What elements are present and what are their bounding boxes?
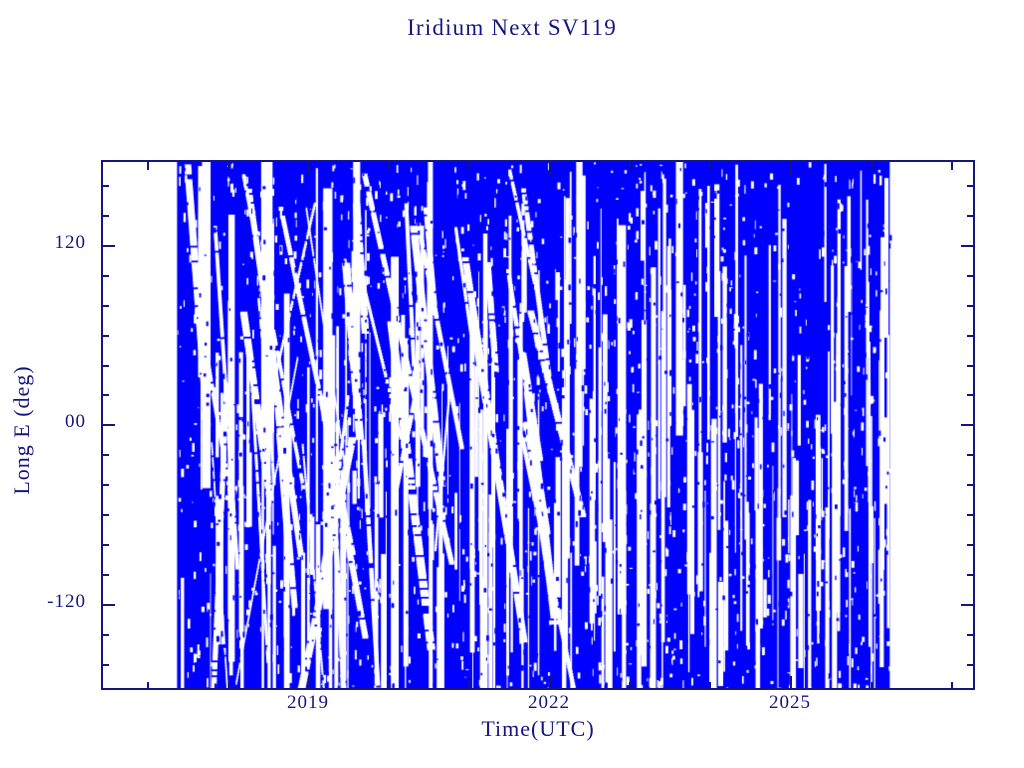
y-axis-minor-tick [101,544,109,546]
x-axis-minor-tick-top [388,162,390,170]
y-axis-minor-tick-right [967,484,975,486]
y-axis-minor-tick-right [967,514,975,516]
y-axis-major-tick [101,245,115,247]
y-axis-tick-label: 120 [0,232,86,254]
y-axis-minor-tick [101,275,109,277]
chart-figure: Iridium Next SV119 12000-120201920222025… [0,0,1024,768]
y-axis-minor-tick-right [967,394,975,396]
x-axis-major-tick [549,676,551,690]
x-axis-minor-tick-top [709,162,711,170]
x-axis-minor-tick [388,682,390,690]
x-axis-major-tick [790,676,792,690]
y-axis-minor-tick-right [967,574,975,576]
x-axis-title: Time(UTC) [101,716,975,742]
y-axis-minor-tick [101,514,109,516]
y-axis-minor-tick-right [967,305,975,307]
y-axis-minor-tick [101,454,109,456]
y-axis-minor-tick-right [967,335,975,337]
y-axis-major-tick-right [961,245,975,247]
y-axis-minor-tick [101,185,109,187]
x-axis-minor-tick [951,682,953,690]
x-axis-major-tick-top [308,162,310,176]
y-axis-minor-tick-right [967,544,975,546]
y-axis-minor-tick-right [967,664,975,666]
data-plot-canvas [103,162,973,688]
y-axis-minor-tick [101,394,109,396]
y-axis-minor-tick [101,484,109,486]
y-axis-major-tick-right [961,424,975,426]
y-axis-minor-tick-right [967,185,975,187]
x-axis-minor-tick [709,682,711,690]
y-axis-minor-tick [101,664,109,666]
y-axis-minor-tick-right [967,365,975,367]
x-axis-minor-tick [871,682,873,690]
x-axis-major-tick [308,676,310,690]
x-axis-major-tick-top [549,162,551,176]
x-axis-tick-label: 2022 [489,692,609,714]
y-axis-title: Long E (deg) [9,320,35,540]
x-axis-minor-tick-top [629,162,631,170]
y-axis-minor-tick-right [967,454,975,456]
plot-area [101,160,975,690]
x-axis-minor-tick-top [147,162,149,170]
x-axis-minor-tick-top [468,162,470,170]
x-axis-minor-tick-top [228,162,230,170]
x-axis-minor-tick [228,682,230,690]
x-axis-minor-tick [629,682,631,690]
y-axis-minor-tick [101,335,109,337]
y-axis-major-tick-right [961,604,975,606]
y-axis-minor-tick-right [967,634,975,636]
y-axis-minor-tick [101,305,109,307]
x-axis-tick-label: 2025 [730,692,850,714]
x-axis-minor-tick-top [871,162,873,170]
y-axis-major-tick [101,424,115,426]
y-axis-minor-tick-right [967,275,975,277]
y-axis-minor-tick [101,634,109,636]
x-axis-major-tick-top [790,162,792,176]
y-axis-minor-tick-right [967,215,975,217]
page-title: Iridium Next SV119 [0,15,1024,41]
x-axis-minor-tick [468,682,470,690]
y-axis-tick-label: -120 [0,591,86,613]
y-axis-minor-tick [101,574,109,576]
y-axis-major-tick [101,604,115,606]
x-axis-minor-tick [147,682,149,690]
y-axis-minor-tick [101,215,109,217]
y-axis-minor-tick [101,365,109,367]
x-axis-minor-tick-top [951,162,953,170]
x-axis-tick-label: 2019 [248,692,368,714]
